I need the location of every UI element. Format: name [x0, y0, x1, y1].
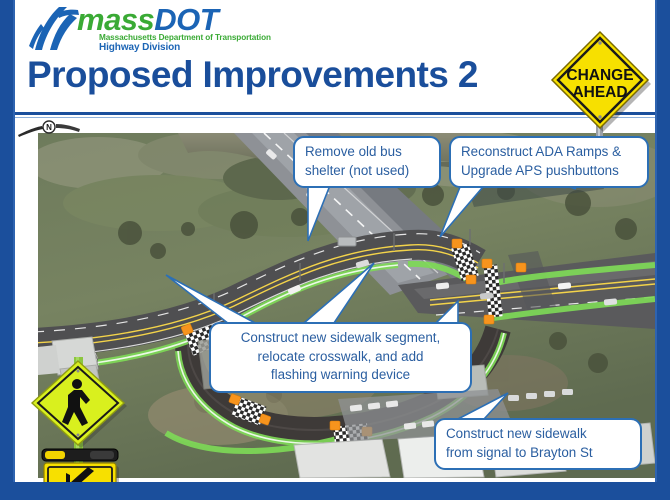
logo-word-dot: DOT: [154, 2, 218, 37]
massdot-logo: massDOT Massachusetts Department of Tran…: [29, 6, 299, 54]
frame-bottom-band: [0, 482, 670, 500]
logo-wordmark: massDOT: [77, 3, 218, 37]
logo-subtitle-department: Massachusetts Department of Transportati…: [99, 33, 271, 42]
callout-construct-sidewalk-brayton[interactable]: Construct new sidewalk from signal to Br…: [434, 418, 642, 470]
callout-construct-sidewalk-segment[interactable]: Construct new sidewalk segment, relocate…: [209, 322, 472, 393]
pedestrian-crossing-sign-assembly: [28, 357, 132, 499]
callout-reconstruct-ada-ramps[interactable]: Reconstruct ADA Ramps & Upgrade APS push…: [449, 136, 649, 188]
logo-word-mass: mass: [77, 2, 154, 37]
north-label: N: [46, 123, 52, 132]
change-ahead-sign: CHANGE AHEAD: [548, 28, 654, 146]
frame-right-hairline: [655, 0, 657, 482]
change-sign-line-2: AHEAD: [572, 84, 627, 101]
frame-left-band: [0, 0, 13, 500]
massdot-highway-mark-icon: [29, 6, 81, 52]
slide-canvas: massDOT Massachusetts Department of Tran…: [0, 0, 670, 500]
pedestrian-crossing-icon: [32, 361, 127, 448]
page-title: Proposed Improvements 2: [27, 52, 478, 98]
frame-right-band: [657, 0, 670, 500]
change-sign-line-1: CHANGE: [566, 67, 633, 84]
callout-remove-bus-shelter[interactable]: Remove old bus shelter (not used): [293, 136, 441, 188]
north-arrow-icon: N: [16, 118, 82, 144]
rrfb-beacon-icon: [42, 449, 118, 461]
frame-left-hairline: [13, 0, 15, 482]
